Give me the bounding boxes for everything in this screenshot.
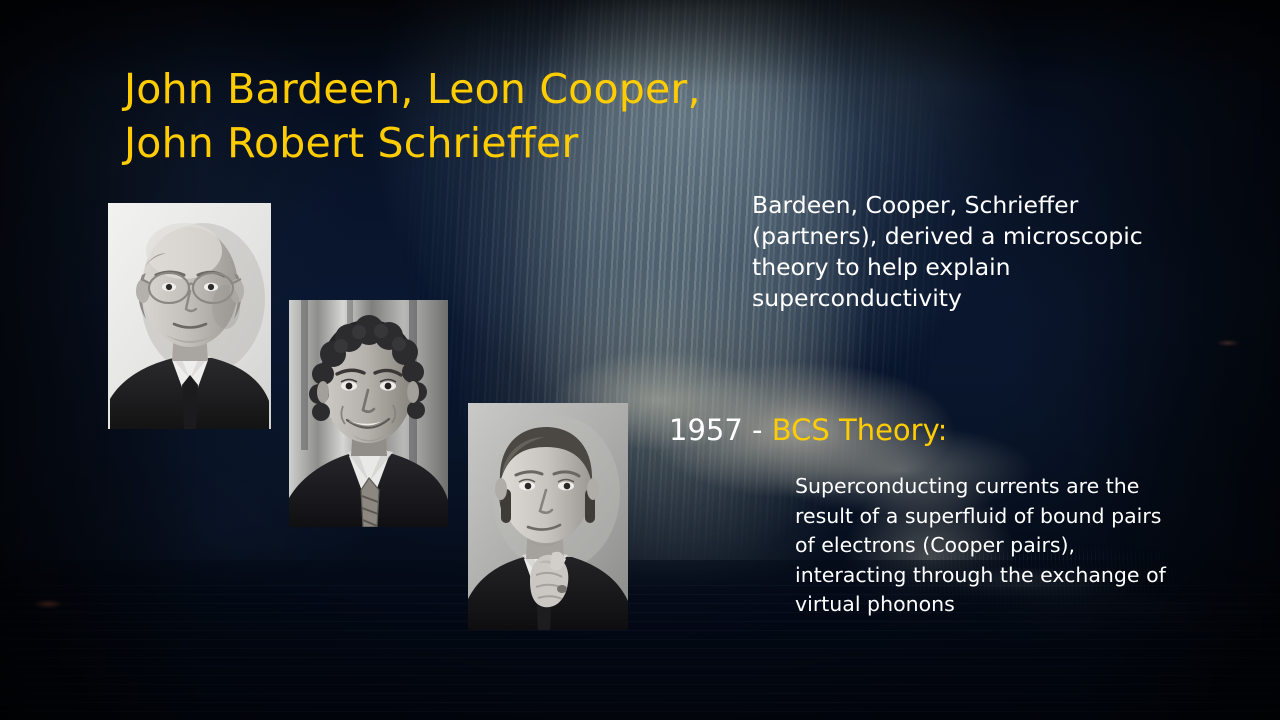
bcs-body-paragraph: Superconducting currents are the result … (795, 472, 1167, 620)
presentation-slide: John Bardeen, Leon Cooper, John Robert S… (0, 0, 1280, 720)
bcs-theory-label: BCS Theory: (772, 413, 948, 447)
intro-paragraph: Bardeen, Cooper, Schrieffer (partners), … (752, 190, 1164, 314)
slide-title: John Bardeen, Leon Cooper, John Robert S… (124, 62, 884, 170)
portrait-leon-cooper (289, 300, 448, 527)
portrait-john-robert-schrieffer (468, 403, 628, 630)
bcs-year-label: 1957 - (669, 413, 772, 447)
portrait-john-bardeen (108, 203, 271, 429)
bcs-theory-heading: 1957 - BCS Theory: (669, 411, 947, 449)
